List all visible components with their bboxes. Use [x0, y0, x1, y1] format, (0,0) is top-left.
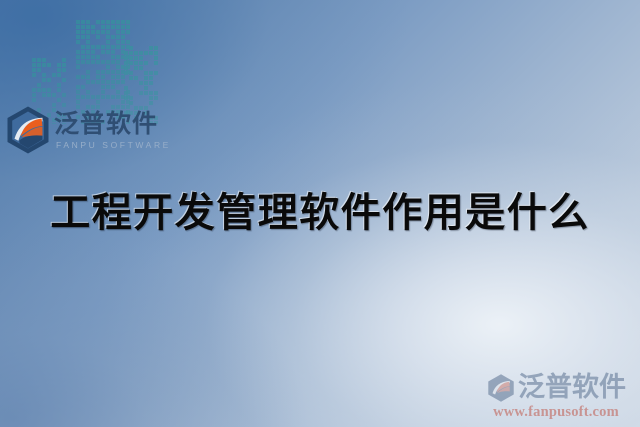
promo-banner: 泛普软件 FANPU SOFTWARE 工程开发管理软件作用是什么 泛普软件 w…	[0, 0, 640, 427]
logo-company-subtitle: FANPU SOFTWARE	[56, 141, 171, 150]
fanpu-watermark-logo-icon	[486, 373, 516, 403]
brand-logo: 泛普软件 FANPU SOFTWARE	[5, 104, 171, 156]
fanpu-hexagon-logo-icon	[5, 105, 51, 155]
watermark-url: www.fanpusoft.com	[480, 405, 632, 420]
logo-company-name: 泛普软件	[54, 111, 171, 137]
watermark-company-name: 泛普软件	[518, 374, 626, 401]
logo-wordmark: 泛普软件 FANPU SOFTWARE	[54, 111, 171, 150]
watermark-logo-row: 泛普软件	[480, 373, 632, 403]
site-watermark: 泛普软件 www.fanpusoft.com	[480, 373, 632, 420]
page-title: 工程开发管理软件作用是什么	[0, 190, 640, 236]
